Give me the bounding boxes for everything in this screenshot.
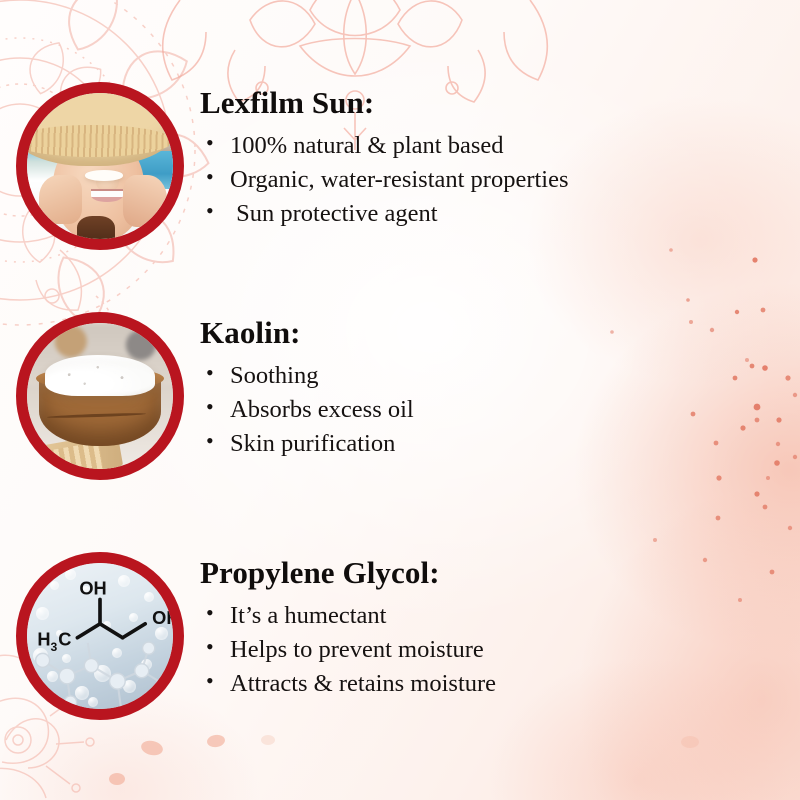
text-block-propylene: Propylene Glycol: It’s a humectant Helps… <box>200 552 800 701</box>
image-slot-kaolin <box>0 312 200 480</box>
image-slot-propylene: OH OH H 3 C <box>0 552 200 720</box>
svg-text:H: H <box>37 629 50 650</box>
list-item: Skin purification <box>200 427 800 460</box>
list-item: Absorbs excess oil <box>200 393 800 426</box>
ingredient-list: Lexfilm Sun: 100% natural & plant based … <box>0 0 800 800</box>
ingredient-section-lexfilm: Lexfilm Sun: 100% natural & plant based … <box>0 82 800 250</box>
molecule-structure-icon: OH OH H 3 C <box>27 563 173 709</box>
list-item: Sun protective agent <box>200 197 800 230</box>
list-item: Attracts & retains moisture <box>200 667 800 700</box>
woman-applying-sunscreen-photo <box>16 82 184 250</box>
svg-text:3: 3 <box>50 640 57 654</box>
svg-text:OH: OH <box>152 607 173 628</box>
list-item: 100% natural & plant based <box>200 129 800 162</box>
list-item: Organic, water-resistant properties <box>200 163 800 196</box>
benefit-list: 100% natural & plant based Organic, wate… <box>200 129 800 230</box>
kaolin-clay-bowl-photo <box>16 312 184 480</box>
list-item: Soothing <box>200 359 800 392</box>
text-block-kaolin: Kaolin: Soothing Absorbs excess oil Skin… <box>200 312 800 461</box>
propylene-glycol-molecule-diagram: OH OH H 3 C <box>16 552 184 720</box>
svg-text:C: C <box>58 629 71 650</box>
text-block-lexfilm: Lexfilm Sun: 100% natural & plant based … <box>200 82 800 231</box>
list-item: Helps to prevent moisture <box>200 633 800 666</box>
benefit-list: Soothing Absorbs excess oil Skin purific… <box>200 359 800 460</box>
ingredient-heading: Propylene Glycol: <box>200 556 800 590</box>
list-item: It’s a humectant <box>200 599 800 632</box>
ingredient-heading: Kaolin: <box>200 316 800 350</box>
ingredient-section-propylene-glycol: OH OH H 3 C Propylene Glycol: It’s a hum… <box>0 552 800 720</box>
svg-text:OH: OH <box>79 577 106 598</box>
ingredient-heading: Lexfilm Sun: <box>200 86 800 120</box>
ingredient-section-kaolin: Kaolin: Soothing Absorbs excess oil Skin… <box>0 312 800 480</box>
benefit-list: It’s a humectant Helps to prevent moistu… <box>200 599 800 700</box>
image-slot-lexfilm <box>0 82 200 250</box>
